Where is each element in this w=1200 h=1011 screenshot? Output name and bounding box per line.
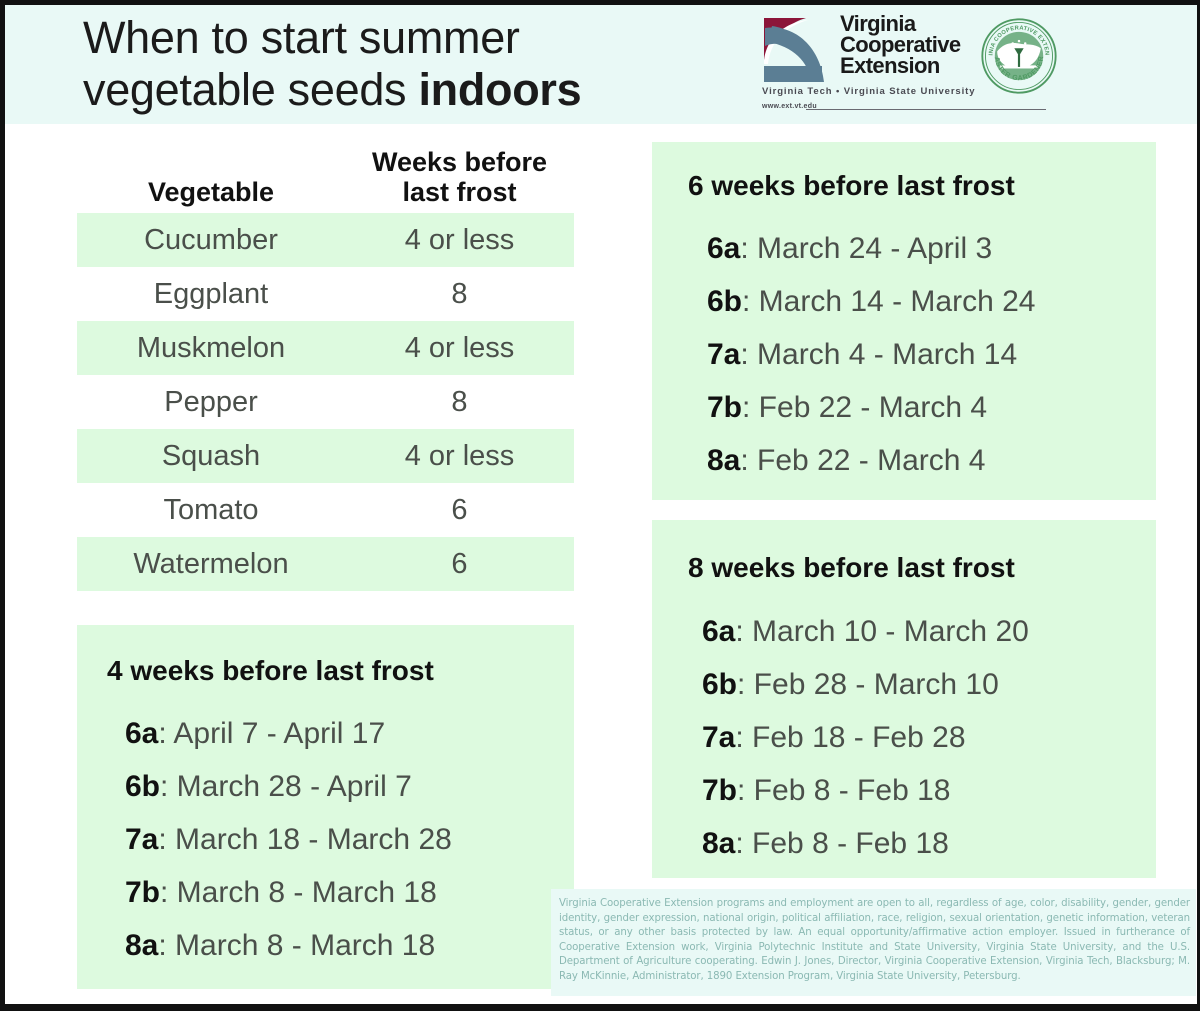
zone-date-range: : March 24 - April 3 [740, 232, 992, 265]
panel-4-weeks: 4 weeks before last frost 6a: April 7 - … [77, 625, 574, 989]
infographic-page: When to start summer vegetable seeds ind… [0, 0, 1200, 1011]
virginia-tech-mark-icon [762, 16, 830, 84]
zone-item: 8a: March 8 - March 18 [125, 919, 452, 972]
disclaimer-block: Virginia Cooperative Extension programs … [551, 889, 1196, 996]
column-header-weeks-line2: last frost [402, 177, 516, 207]
zone-label: 7b [702, 774, 737, 807]
table-row: Pepper8 [77, 375, 574, 429]
cell-vegetable: Pepper [77, 386, 345, 419]
table-row: Watermelon6 [77, 537, 574, 591]
cell-weeks: 8 [345, 278, 574, 311]
page-title-line2-normal: vegetable seeds [83, 64, 418, 115]
column-header-vegetable: Vegetable [77, 177, 345, 213]
zone-label: 6a [707, 232, 740, 265]
zone-label: 7a [125, 823, 158, 856]
zone-date-range: : Feb 22 - March 4 [742, 391, 987, 424]
zone-label: 8a [707, 444, 740, 477]
cell-vegetable: Watermelon [77, 548, 345, 581]
zone-label: 8a [125, 929, 158, 962]
master-gardeners-seal-icon: VIRGINIA COOPERATIVE EXTENSION MASTER GA… [980, 17, 1058, 95]
table-header-row: Vegetable Weeks before last frost [77, 137, 574, 213]
zone-label: 6a [125, 717, 158, 750]
panel-4-weeks-list: 6a: April 7 - April 176b: March 28 - Apr… [125, 707, 452, 972]
cell-weeks: 4 or less [345, 332, 574, 365]
panel-4-weeks-title: 4 weeks before last frost [107, 655, 434, 687]
cell-vegetable: Eggplant [77, 278, 345, 311]
zone-date-range: : March 8 - March 18 [160, 876, 437, 909]
table-body: Cucumber4 or lessEggplant8Muskmelon4 or … [77, 213, 574, 591]
cell-vegetable: Muskmelon [77, 332, 345, 365]
zone-item: 6a: March 10 - March 20 [702, 605, 1029, 658]
zone-date-range: : Feb 8 - Feb 18 [737, 774, 950, 807]
panel-6-weeks-title: 6 weeks before last frost [688, 170, 1015, 202]
zone-item: 6b: Feb 28 - March 10 [702, 658, 1029, 711]
page-title-line1: When to start summer [83, 12, 520, 63]
panel-6-weeks: 6 weeks before last frost 6a: March 24 -… [652, 142, 1156, 500]
zone-date-range: : Feb 18 - Feb 28 [735, 721, 965, 754]
zone-item: 6b: March 28 - April 7 [125, 760, 452, 813]
zone-label: 7a [707, 338, 740, 371]
zone-item: 6a: April 7 - April 17 [125, 707, 452, 760]
vce-logo-text: Virginia Cooperative Extension [840, 14, 1000, 77]
cell-vegetable: Cucumber [77, 224, 345, 257]
logo-line-extension: Extension [840, 56, 1000, 77]
table-row: Squash4 or less [77, 429, 574, 483]
zone-label: 6b [125, 770, 160, 803]
zone-label: 6b [707, 285, 742, 318]
panel-8-weeks-title: 8 weeks before last frost [688, 552, 1015, 584]
cell-weeks: 6 [345, 494, 574, 527]
zone-label: 7b [707, 391, 742, 424]
cell-vegetable: Squash [77, 440, 345, 473]
zone-label: 6a [702, 615, 735, 648]
column-header-weeks-line1: Weeks before [372, 147, 547, 177]
page-title: When to start summer vegetable seeds ind… [83, 12, 683, 116]
zone-label: 8a [702, 827, 735, 860]
panel-8-weeks: 8 weeks before last frost 6a: March 10 -… [652, 520, 1156, 878]
zone-label: 6b [702, 668, 737, 701]
zone-date-range: : Feb 22 - March 4 [740, 444, 985, 477]
table-row: Tomato6 [77, 483, 574, 537]
zone-item: 6a: March 24 - April 3 [707, 222, 1035, 275]
page-title-line2-bold: indoors [418, 64, 581, 115]
table-row: Cucumber4 or less [77, 213, 574, 267]
table-row: Muskmelon4 or less [77, 321, 574, 375]
zone-item: 7a: Feb 18 - Feb 28 [702, 711, 1029, 764]
vegetable-table: Vegetable Weeks before last frost Cucumb… [77, 137, 574, 591]
zone-item: 7b: March 8 - March 18 [125, 866, 452, 919]
zone-item: 7a: March 18 - March 28 [125, 813, 452, 866]
zone-item: 7a: March 4 - March 14 [707, 328, 1035, 381]
zone-item: 7b: Feb 22 - March 4 [707, 381, 1035, 434]
cell-weeks: 6 [345, 548, 574, 581]
panel-6-weeks-list: 6a: March 24 - April 36b: March 14 - Mar… [707, 222, 1035, 487]
zone-item: 8a: Feb 8 - Feb 18 [702, 817, 1029, 870]
zone-date-range: : March 10 - March 20 [735, 615, 1028, 648]
zone-item: 8a: Feb 22 - March 4 [707, 434, 1035, 487]
vce-logo: Virginia Cooperative Extension Virginia … [762, 14, 1072, 122]
cell-weeks: 8 [345, 386, 574, 419]
disclaimer-text: Virginia Cooperative Extension programs … [559, 897, 1190, 984]
zone-item: 6b: March 14 - March 24 [707, 275, 1035, 328]
zone-date-range: : March 8 - March 18 [158, 929, 435, 962]
cell-vegetable: Tomato [77, 494, 345, 527]
zone-date-range: : March 14 - March 24 [742, 285, 1035, 318]
zone-date-range: : March 18 - March 28 [158, 823, 451, 856]
zone-date-range: : April 7 - April 17 [158, 717, 385, 750]
zone-date-range: : March 4 - March 14 [740, 338, 1017, 371]
logo-subtitle: Virginia Tech • Virginia State Universit… [762, 86, 975, 97]
column-header-weeks: Weeks before last frost [345, 147, 574, 213]
cell-weeks: 4 or less [345, 224, 574, 257]
zone-date-range: : March 28 - April 7 [160, 770, 412, 803]
zone-label: 7b [125, 876, 160, 909]
zone-date-range: : Feb 28 - March 10 [737, 668, 999, 701]
panel-8-weeks-list: 6a: March 10 - March 206b: Feb 28 - Marc… [702, 605, 1029, 870]
logo-rule [806, 109, 1046, 110]
zone-date-range: : Feb 8 - Feb 18 [735, 827, 948, 860]
zone-label: 7a [702, 721, 735, 754]
cell-weeks: 4 or less [345, 440, 574, 473]
table-row: Eggplant8 [77, 267, 574, 321]
zone-item: 7b: Feb 8 - Feb 18 [702, 764, 1029, 817]
